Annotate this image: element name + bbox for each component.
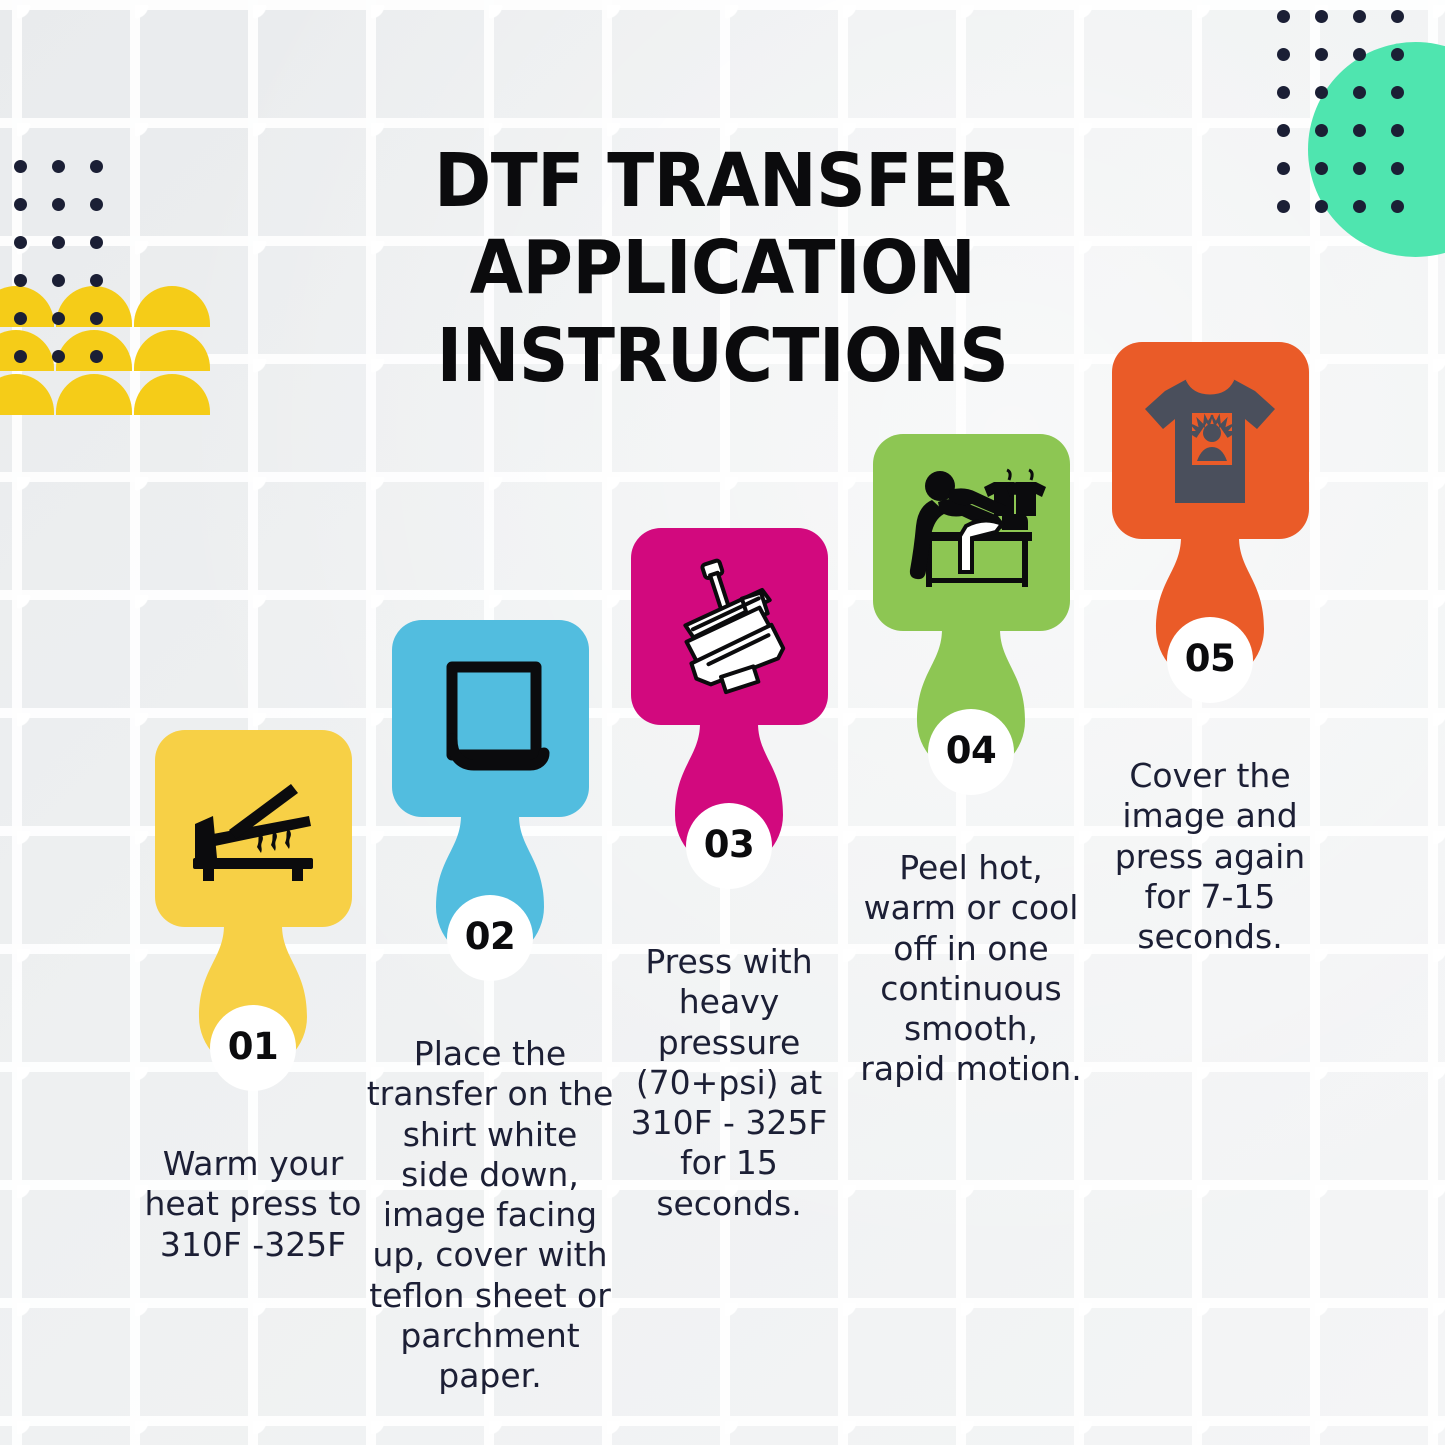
step-05-number-connector: 05 (1134, 537, 1286, 742)
step-02-number: 02 (414, 915, 566, 958)
step-01-number: 01 (177, 1025, 329, 1068)
step-02-description: Place the transfer on the shirt white si… (365, 1034, 615, 1396)
step-03-number-connector: 03 (653, 723, 805, 928)
step-05-description: Cover the image and press again for 7-15… (1098, 756, 1323, 957)
step-05-icon-card[interactable] (1112, 342, 1309, 539)
step-04-icon-card[interactable] (873, 434, 1070, 631)
step-03-description: Press with heavy pressure (70+psi) at 31… (612, 942, 847, 1224)
step-card-04[interactable]: 04 Peel hot, warm or cool off in one con… (846, 434, 1096, 1090)
step-02-icon-card[interactable] (392, 620, 589, 817)
step-05-number: 05 (1134, 637, 1286, 680)
infographic-canvas: DTF TRANSFER APPLICATION INSTRUCTIONS (0, 0, 1445, 1445)
step-04-number-connector: 04 (895, 629, 1047, 834)
transfer-sheet-icon (426, 657, 554, 781)
step-03-icon-card[interactable] (631, 528, 828, 725)
printed-tshirt-icon (1135, 371, 1285, 511)
step-03-number: 03 (653, 823, 805, 866)
steps-container: 01 Warm your heat press to 310F -325F (0, 0, 1445, 1445)
step-01-description: Warm your heat press to 310F -325F (128, 1144, 378, 1265)
heat-press-icon (183, 774, 323, 884)
step-card-02[interactable]: 02 Place the transfer on the shirt white… (365, 620, 615, 1396)
step-card-05[interactable]: 05 Cover the image and press again for 7… (1085, 342, 1335, 957)
step-02-number-connector: 02 (414, 815, 566, 1020)
peeling-worker-icon (892, 460, 1050, 606)
heat-press-machine-icon (654, 552, 804, 702)
step-01-number-connector: 01 (177, 925, 329, 1130)
step-01-icon-card[interactable] (155, 730, 352, 927)
step-04-description: Peel hot, warm or cool off in one contin… (859, 848, 1084, 1090)
step-card-01[interactable]: 01 Warm your heat press to 310F -325F (128, 730, 378, 1265)
step-04-number: 04 (895, 729, 1047, 772)
step-card-03[interactable]: 03 Press with heavy pressure (70+psi) at… (604, 528, 854, 1224)
